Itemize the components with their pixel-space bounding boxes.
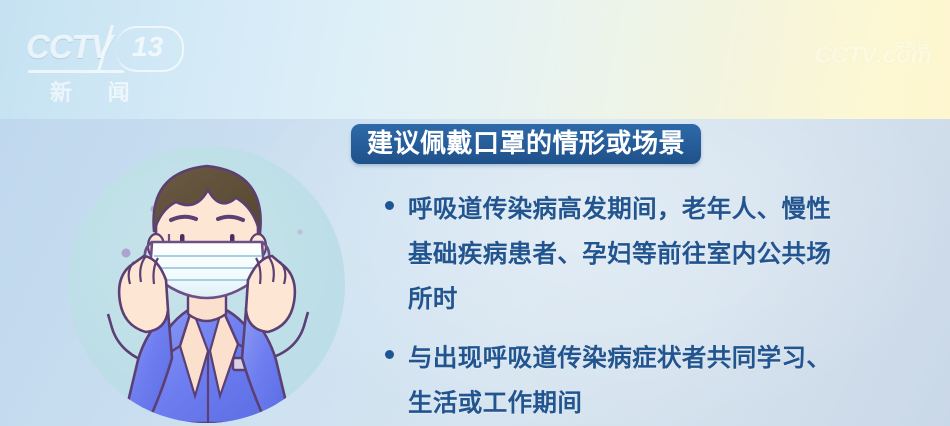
list-item-text: 与出现呼吸道传染病症状者共同学习、 生活或工作期间	[408, 335, 925, 425]
list-item-line: 生活或工作期间	[408, 380, 925, 425]
broadcast-infographic-screen: CCTV 13 新 闻 央视网 CCTV.com	[0, 0, 950, 426]
decor-dot	[297, 229, 302, 234]
list-item: 与出现呼吸道传染病症状者共同学习、 生活或工作期间	[385, 335, 925, 425]
bullet-dot-icon	[385, 350, 394, 359]
bullet-dot-icon	[385, 201, 394, 210]
logo-underline	[28, 70, 124, 73]
logo-subtitle-xinwen: 新 闻	[50, 75, 144, 107]
logo-channel-number: 13	[132, 31, 163, 63]
page-title: 建议佩戴口罩的情形或场景	[367, 131, 685, 157]
recommendation-list: 呼吸道传染病高发期间，老年人、慢性 基础疾病患者、孕妇等前往室内公共场 所时 与…	[385, 186, 925, 426]
list-item-line: 与出现呼吸道传染病症状者共同学习、	[408, 335, 925, 380]
list-item: 呼吸道传染病高发期间，老年人、慢性 基础疾病患者、孕妇等前往室内公共场 所时	[385, 186, 925, 321]
headline-banner: 建议佩戴口罩的情形或场景	[351, 124, 701, 164]
masked-person-illustration	[68, 146, 345, 423]
watermark-dot: .	[876, 42, 883, 69]
cctv13-channel-logo: CCTV 13 新 闻	[22, 28, 192, 106]
list-item-line: 基础疾病患者、孕妇等前往室内公共场	[408, 231, 925, 276]
list-item-line: 呼吸道传染病高发期间，老年人、慢性	[408, 186, 925, 231]
masked-person-artwork	[68, 146, 345, 423]
decor-dot	[122, 249, 131, 258]
list-item-line: 所时	[408, 276, 925, 321]
hand-left	[119, 256, 168, 332]
watermark-chinese-text: 央视网	[894, 38, 930, 54]
list-item-text: 呼吸道传染病高发期间，老年人、慢性 基础疾病患者、孕妇等前往室内公共场 所时	[408, 186, 925, 321]
cctv-com-watermark: 央视网 CCTV.com	[815, 42, 932, 70]
watermark-brand: CCTV	[815, 42, 876, 69]
